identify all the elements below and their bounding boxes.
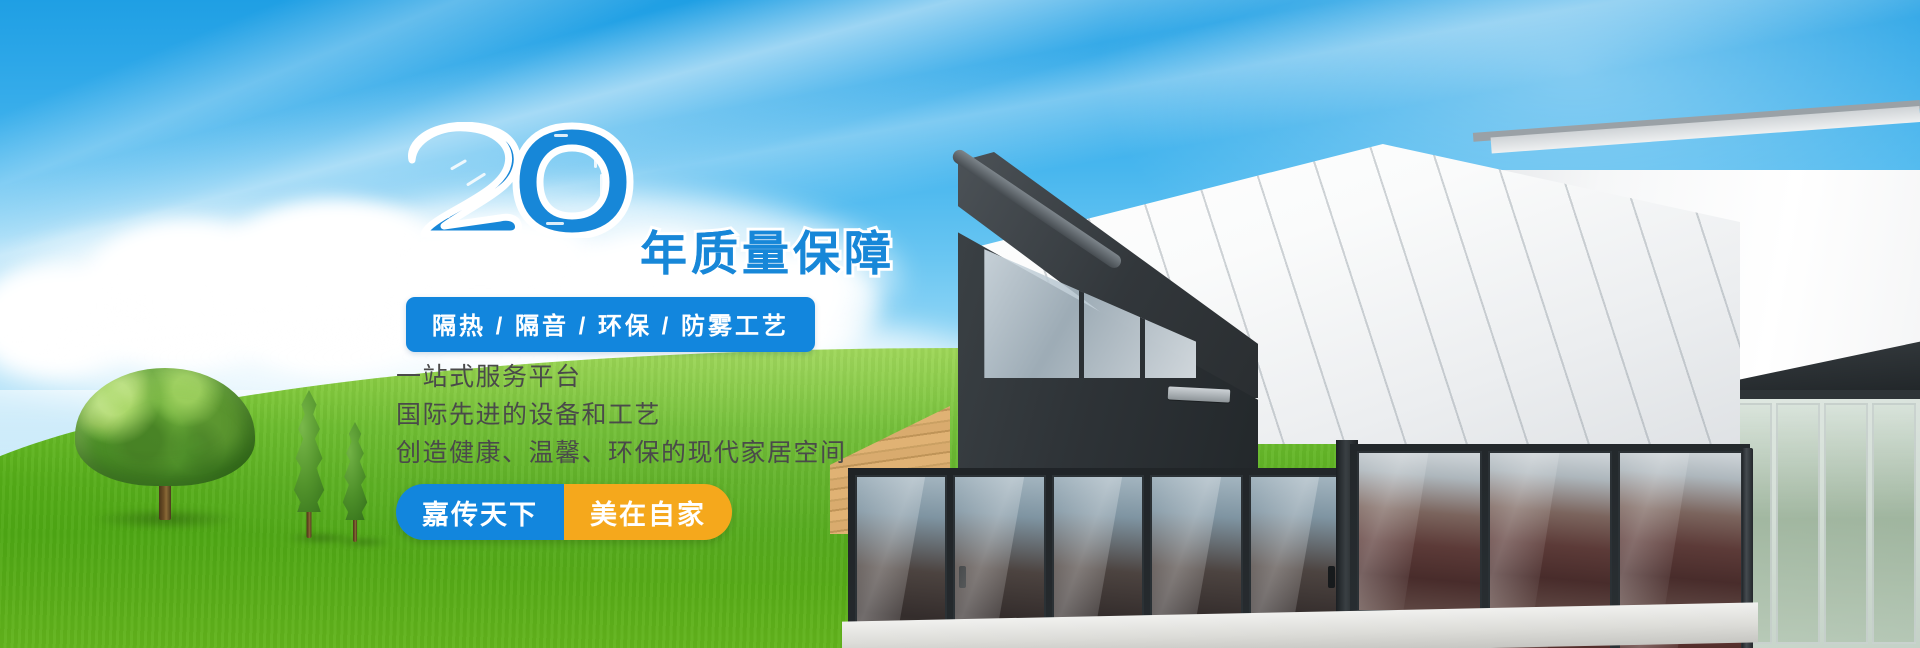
description-line: 一站式服务平台	[396, 358, 847, 396]
slogan-left-segment[interactable]: 嘉传天下	[396, 484, 564, 540]
modern-glass-sunroom-house	[830, 88, 1920, 648]
slogan-right-segment[interactable]: 美在自家	[564, 484, 732, 540]
features-pill: 隔热 / 隔音 / 环保 / 防雾工艺	[406, 297, 815, 352]
guarantee-text: 年质量保障	[640, 215, 895, 284]
slogan-button[interactable]: 嘉传天下 美在自家	[396, 484, 732, 540]
headline-number-20	[404, 122, 634, 238]
description-line: 创造健康、温馨、环保的现代家居空间	[396, 434, 847, 472]
description-block: 一站式服务平台 国际先进的设备和工艺 创造健康、温馨、环保的现代家居空间	[396, 358, 847, 472]
copy-block: 年质量保障 年质量保障 隔热 / 隔音 / 环保 / 防雾工艺 一站式服务平台 …	[0, 0, 900, 648]
description-line: 国际先进的设备和工艺	[396, 396, 847, 434]
promo-banner: 年质量保障 年质量保障 隔热 / 隔音 / 环保 / 防雾工艺 一站式服务平台 …	[0, 0, 1920, 648]
